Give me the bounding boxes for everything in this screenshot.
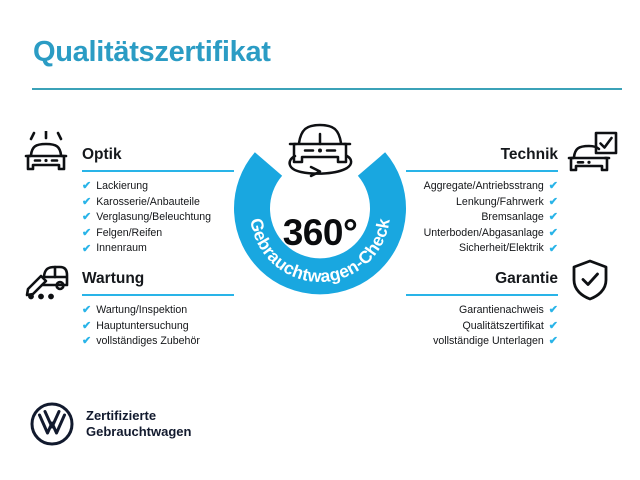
list-item: ✔Karosserie/Anbauteile	[82, 195, 234, 211]
brand-line-1: Zertifizierte	[86, 408, 191, 424]
check-icon: ✔	[549, 228, 558, 239]
list-item: Sicherheit/Elektrik✔	[406, 241, 558, 257]
list-item-label: Sicherheit/Elektrik	[459, 241, 544, 257]
badge-value: 360°	[224, 212, 416, 254]
checklist: ✔Wartung/Inspektion ✔Hauptuntersuchung ✔…	[82, 303, 234, 350]
check-icon: ✔	[82, 336, 91, 347]
check-icon: ✔	[549, 212, 558, 223]
list-item-label: Aggregate/Antriebsstrang	[424, 179, 544, 195]
car-rotate-icon	[281, 112, 359, 189]
check-icon: ✔	[549, 197, 558, 208]
checklist: Garantienachweis✔ Qualitätszertifikat✔ v…	[406, 303, 558, 350]
list-item-label: Bremsanlage	[481, 210, 543, 226]
list-item-label: Lenkung/Fahrwerk	[456, 195, 544, 211]
vw-logo-icon	[30, 402, 74, 446]
section-optik: Optik ✔Lackierung ✔Karosserie/Anbauteile…	[82, 138, 234, 257]
check-icon: ✔	[82, 321, 91, 332]
list-item: Unterboden/Abgasanlage✔	[406, 226, 558, 242]
list-item: vollständige Unterlagen✔	[406, 334, 558, 350]
brand-text: Zertifizierte Gebrauchtwagen	[86, 408, 191, 440]
list-item-label: Qualitätszertifikat	[463, 319, 544, 335]
list-item: Garantienachweis✔	[406, 303, 558, 319]
list-item: ✔Felgen/Reifen	[82, 226, 234, 242]
check-icon: ✔	[82, 212, 91, 223]
section-wartung: Wartung ✔Wartung/Inspektion ✔Hauptunters…	[82, 262, 234, 350]
brand-lockup: Zertifizierte Gebrauchtwagen	[30, 402, 191, 446]
check-icon: ✔	[549, 305, 558, 316]
shield-check-icon	[570, 258, 610, 307]
title-divider	[32, 88, 622, 90]
list-item: Bremsanlage✔	[406, 210, 558, 226]
check-icon: ✔	[82, 197, 91, 208]
section-technik: Technik Aggregate/Antriebsstrang✔ Lenkun…	[406, 138, 558, 257]
list-item-label: Wartung/Inspektion	[96, 303, 187, 319]
list-item: ✔Hauptuntersuchung	[82, 319, 234, 335]
section-header: Technik	[406, 138, 558, 172]
check-icon: ✔	[82, 228, 91, 239]
section-header: Wartung	[82, 262, 234, 296]
check-icon: ✔	[549, 244, 558, 255]
list-item: Lenkung/Fahrwerk✔	[406, 195, 558, 211]
section-header: Optik	[82, 138, 234, 172]
list-item: ✔Innenraum	[82, 241, 234, 257]
brand-line-2: Gebrauchtwagen	[86, 424, 191, 440]
check-icon: ✔	[549, 336, 558, 347]
check-icon: ✔	[82, 181, 91, 192]
list-item-label: Lackierung	[96, 179, 148, 195]
list-item-label: Unterboden/Abgasanlage	[424, 226, 544, 242]
section-title: Wartung	[82, 270, 144, 288]
check-icon: ✔	[82, 305, 91, 316]
list-item: Qualitätszertifikat✔	[406, 319, 558, 335]
list-item-label: Hauptuntersuchung	[96, 319, 188, 335]
list-item: ✔Verglasung/Beleuchtung	[82, 210, 234, 226]
list-item-label: Karosserie/Anbauteile	[96, 195, 200, 211]
list-item-label: vollständiges Zubehör	[96, 334, 200, 350]
section-divider	[406, 170, 558, 172]
car-shine-icon	[22, 131, 70, 180]
checklist: Aggregate/Antriebsstrang✔ Lenkung/Fahrwe…	[406, 179, 558, 257]
car-service-log-icon	[22, 256, 70, 305]
check-icon: ✔	[549, 181, 558, 192]
section-title: Technik	[501, 146, 558, 164]
checklist: ✔Lackierung ✔Karosserie/Anbauteile ✔Verg…	[82, 179, 234, 257]
section-title: Optik	[82, 146, 122, 164]
check-icon: ✔	[82, 244, 91, 255]
list-item-label: Felgen/Reifen	[96, 226, 162, 242]
certificate-page: Qualitätszertifikat	[0, 0, 640, 480]
badge-360-gebrauchtwagen-check: Gebrauchtwagen-Check 360°	[224, 116, 416, 308]
list-item-label: Garantienachweis	[459, 303, 544, 319]
section-divider	[406, 294, 558, 296]
car-checkbox-icon	[566, 131, 618, 180]
list-item: ✔Wartung/Inspektion	[82, 303, 234, 319]
section-divider	[82, 294, 234, 296]
list-item: Aggregate/Antriebsstrang✔	[406, 179, 558, 195]
section-title: Garantie	[495, 270, 558, 288]
list-item-label: Innenraum	[96, 241, 147, 257]
list-item-label: Verglasung/Beleuchtung	[96, 210, 211, 226]
list-item: ✔vollständiges Zubehör	[82, 334, 234, 350]
section-divider	[82, 170, 234, 172]
list-item: ✔Lackierung	[82, 179, 234, 195]
section-header: Garantie	[406, 262, 558, 296]
section-garantie: Garantie Garantienachweis✔ Qualitätszert…	[406, 262, 558, 350]
check-icon: ✔	[549, 321, 558, 332]
list-item-label: vollständige Unterlagen	[433, 334, 544, 350]
page-title: Qualitätszertifikat	[33, 36, 271, 69]
